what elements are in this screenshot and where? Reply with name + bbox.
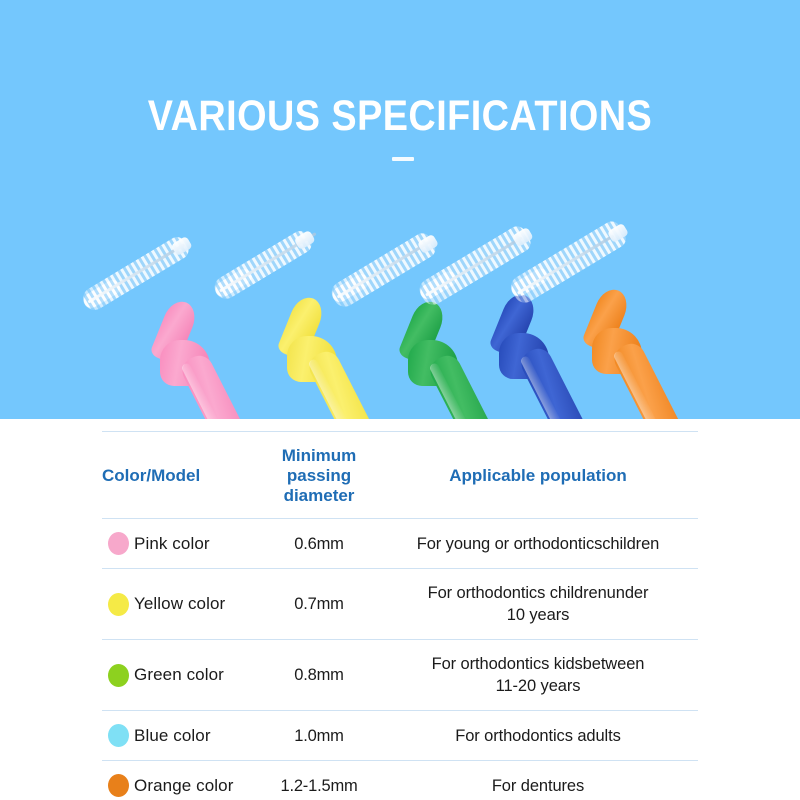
cell-color-model: Yellow color <box>102 569 260 640</box>
color-label: Blue color <box>134 725 211 747</box>
cell-diameter: 1.2-1.5mm <box>260 761 378 800</box>
pink-color-swatch-icon <box>108 532 129 555</box>
orange-color-swatch-icon <box>108 774 129 797</box>
table-row: Orange color 1.2-1.5mm For dentures <box>102 761 698 800</box>
table-header-row: Color/Model Minimum passing diameter App… <box>102 432 698 519</box>
green-color-swatch-icon <box>108 664 129 687</box>
specifications-section: Color/Model Minimum passing diameter App… <box>0 419 800 800</box>
table-row: Yellow color 0.7mm For orthodontics chil… <box>102 569 698 640</box>
table-header: Color/Model Minimum passing diameter App… <box>102 432 698 519</box>
column-header-color-model: Color/Model <box>102 432 260 519</box>
cell-population: For young or orthodonticschildren <box>378 519 698 569</box>
table-row: Blue color 1.0mm For orthodontics adults <box>102 711 698 761</box>
population-line-1: For orthodontics childrenunder <box>428 584 649 602</box>
cell-population: For orthodontics adults <box>378 711 698 761</box>
blue-color-swatch-icon <box>108 724 129 747</box>
cell-color-model: Orange color <box>102 761 260 800</box>
population-line-1: For orthodontics kidsbetween <box>432 655 645 673</box>
cell-population: For orthodontics kidsbetween 11-20 years <box>378 640 698 711</box>
color-label: Pink color <box>134 533 210 555</box>
min-diameter-line-1: Minimum passing <box>282 446 357 485</box>
cell-diameter: 0.6mm <box>260 519 378 569</box>
population-line-1: For orthodontics adults <box>455 727 621 745</box>
table-row: Green color 0.8mm For orthodontics kidsb… <box>102 640 698 711</box>
column-header-population: Applicable population <box>378 432 698 519</box>
orange-brush <box>552 228 742 419</box>
product-image <box>0 0 800 419</box>
table-row: Pink color 0.6mm For young or orthodonti… <box>102 519 698 569</box>
cell-population: For orthodontics childrenunder 10 years <box>378 569 698 640</box>
population-line-2: 11-20 years <box>496 677 581 695</box>
cell-color-model: Pink color <box>102 519 260 569</box>
color-label: Orange color <box>134 775 233 797</box>
cell-diameter: 0.8mm <box>260 640 378 711</box>
column-header-min-diameter: Minimum passing diameter <box>260 432 378 519</box>
min-diameter-line-2: diameter <box>284 486 355 505</box>
cell-diameter: 1.0mm <box>260 711 378 761</box>
color-label: Yellow color <box>134 593 225 615</box>
yellow-color-swatch-icon <box>108 593 129 616</box>
product-spec-page: VARIOUS SPECIFICATIONS <box>0 0 800 800</box>
color-label: Green color <box>134 664 224 686</box>
population-line-1: For young or orthodonticschildren <box>417 535 660 553</box>
cell-color-model: Green color <box>102 640 260 711</box>
hero-banner: VARIOUS SPECIFICATIONS <box>0 0 800 419</box>
orange-brush-handle <box>610 339 717 419</box>
table-body: Pink color 0.6mm For young or orthodonti… <box>102 519 698 800</box>
cell-population: For dentures <box>378 761 698 800</box>
cell-color-model: Blue color <box>102 711 260 761</box>
cell-diameter: 0.7mm <box>260 569 378 640</box>
population-line-1: For dentures <box>492 777 584 795</box>
population-line-2: 10 years <box>507 606 570 624</box>
specifications-table: Color/Model Minimum passing diameter App… <box>102 431 698 800</box>
